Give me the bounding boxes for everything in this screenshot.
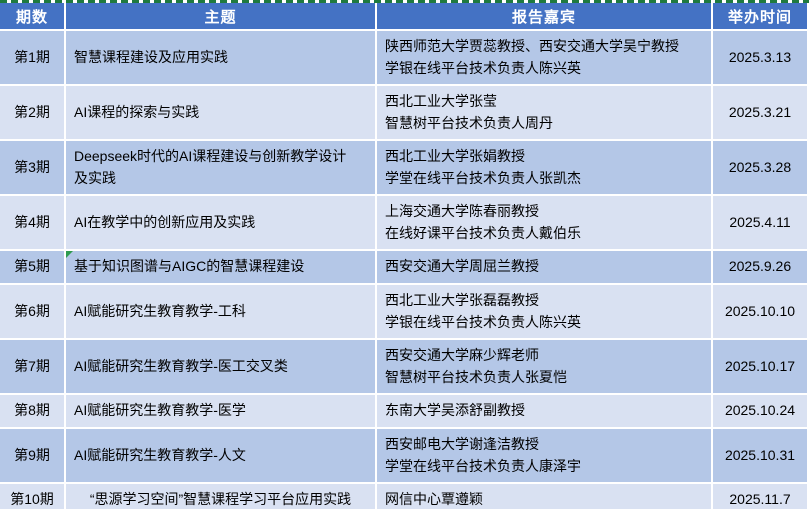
cell-guest[interactable]: 上海交通大学陈春丽教授在线好课平台技术负责人戴伯乐 xyxy=(377,196,713,251)
table-row: 第4期AI在教学中的创新应用及实践上海交通大学陈春丽教授在线好课平台技术负责人戴… xyxy=(0,196,809,251)
guest-line: 学堂在线平台技术负责人张凯杰 xyxy=(385,168,703,190)
topic-line: 及实践 xyxy=(74,168,367,190)
guest-line: 学银在线平台技术负责人陈兴英 xyxy=(385,312,703,334)
cell-guest[interactable]: 东南大学吴添舒副教授 xyxy=(377,395,713,429)
table-row: 第7期AI赋能研究生教育教学-医工交叉类西安交通大学麻少辉老师智慧树平台技术负责… xyxy=(0,340,809,395)
column-header-issue[interactable]: 期数 xyxy=(0,3,66,31)
guest-line: 西北工业大学张磊磊教授 xyxy=(385,290,703,312)
guest-line: 在线好课平台技术负责人戴伯乐 xyxy=(385,223,703,245)
header-row: 期数 主题 报告嘉宾 举办时间 xyxy=(0,3,809,31)
table-header: 期数 主题 报告嘉宾 举办时间 xyxy=(0,3,809,31)
table-row: 第6期AI赋能研究生教育教学-工科西北工业大学张磊磊教授学银在线平台技术负责人陈… xyxy=(0,285,809,340)
column-header-topic[interactable]: 主题 xyxy=(66,3,377,31)
table-body: 第1期智慧课程建设及应用实践陕西师范大学贾蕊教授、西安交通大学吴宁教授学银在线平… xyxy=(0,31,809,509)
cell-guest[interactable]: 网信中心覃遵颖 xyxy=(377,484,713,509)
topic-line: AI赋能研究生教育教学-医工交叉类 xyxy=(74,356,367,378)
cell-issue[interactable]: 第2期 xyxy=(0,86,66,141)
guest-line: 网信中心覃遵颖 xyxy=(385,489,703,509)
topic-line: 基于知识图谱与AIGC的智慧课程建设 xyxy=(74,256,367,278)
cell-date[interactable]: 2025.10.24 xyxy=(713,395,809,429)
topic-line: AI课程的探索与实践 xyxy=(74,102,367,124)
guest-line: 学银在线平台技术负责人陈兴英 xyxy=(385,58,703,80)
column-header-guest[interactable]: 报告嘉宾 xyxy=(377,3,713,31)
cell-topic[interactable]: AI赋能研究生教育教学-人文 xyxy=(66,429,377,484)
cell-date[interactable]: 2025.3.21 xyxy=(713,86,809,141)
cell-guest[interactable]: 西安交通大学麻少辉老师智慧树平台技术负责人张夏恺 xyxy=(377,340,713,395)
schedule-table: 期数 主题 报告嘉宾 举办时间 第1期智慧课程建设及应用实践陕西师范大学贾蕊教授… xyxy=(0,3,809,509)
cell-date[interactable]: 2025.3.13 xyxy=(713,31,809,86)
guest-line: 陕西师范大学贾蕊教授、西安交通大学吴宁教授 xyxy=(385,36,703,58)
table-row: 第3期Deepseek时代的AI课程建设与创新教学设计及实践西北工业大学张娟教授… xyxy=(0,141,809,196)
cell-issue[interactable]: 第8期 xyxy=(0,395,66,429)
topic-line: AI赋能研究生教育教学-医学 xyxy=(74,400,367,422)
cell-guest[interactable]: 西北工业大学张磊磊教授学银在线平台技术负责人陈兴英 xyxy=(377,285,713,340)
cell-guest[interactable]: 陕西师范大学贾蕊教授、西安交通大学吴宁教授学银在线平台技术负责人陈兴英 xyxy=(377,31,713,86)
table-row: 第10期“思源学习空间”智慧课程学习平台应用实践网信中心覃遵颖2025.11.7 xyxy=(0,484,809,509)
cell-date[interactable]: 2025.4.11 xyxy=(713,196,809,251)
column-header-date[interactable]: 举办时间 xyxy=(713,3,809,31)
topic-line: AI赋能研究生教育教学-人文 xyxy=(74,445,367,467)
cell-issue[interactable]: 第10期 xyxy=(0,484,66,509)
cell-issue[interactable]: 第7期 xyxy=(0,340,66,395)
cell-topic[interactable]: AI赋能研究生教育教学-医工交叉类 xyxy=(66,340,377,395)
cell-topic[interactable]: AI赋能研究生教育教学-工科 xyxy=(66,285,377,340)
cell-date[interactable]: 2025.10.31 xyxy=(713,429,809,484)
cell-guest[interactable]: 西北工业大学张娟教授学堂在线平台技术负责人张凯杰 xyxy=(377,141,713,196)
guest-line: 西安交通大学周屈兰教授 xyxy=(385,256,703,278)
cell-topic[interactable]: AI在教学中的创新应用及实践 xyxy=(66,196,377,251)
cell-date[interactable]: 2025.10.10 xyxy=(713,285,809,340)
topic-line: “思源学习空间”智慧课程学习平台应用实践 xyxy=(74,489,367,509)
guest-line: 东南大学吴添舒副教授 xyxy=(385,400,703,422)
guest-line: 上海交通大学陈春丽教授 xyxy=(385,201,703,223)
table-row: 第8期AI赋能研究生教育教学-医学东南大学吴添舒副教授2025.10.24 xyxy=(0,395,809,429)
topic-line: Deepseek时代的AI课程建设与创新教学设计 xyxy=(74,146,367,168)
table-row: 第5期基于知识图谱与AIGC的智慧课程建设西安交通大学周屈兰教授2025.9.2… xyxy=(0,251,809,285)
cell-topic[interactable]: 智慧课程建设及应用实践 xyxy=(66,31,377,86)
cell-guest[interactable]: 西北工业大学张莹智慧树平台技术负责人周丹 xyxy=(377,86,713,141)
guest-line: 智慧树平台技术负责人张夏恺 xyxy=(385,367,703,389)
cell-date[interactable]: 2025.11.7 xyxy=(713,484,809,509)
table-row: 第2期AI课程的探索与实践西北工业大学张莹智慧树平台技术负责人周丹2025.3.… xyxy=(0,86,809,141)
cell-topic[interactable]: 基于知识图谱与AIGC的智慧课程建设 xyxy=(66,251,377,285)
guest-line: 智慧树平台技术负责人周丹 xyxy=(385,113,703,135)
cell-topic[interactable]: Deepseek时代的AI课程建设与创新教学设计及实践 xyxy=(66,141,377,196)
topic-line: 智慧课程建设及应用实践 xyxy=(74,47,367,69)
cell-guest[interactable]: 西安邮电大学谢逢洁教授学堂在线平台技术负责人康泽宇 xyxy=(377,429,713,484)
guest-line: 西安交通大学麻少辉老师 xyxy=(385,345,703,367)
cell-date[interactable]: 2025.10.17 xyxy=(713,340,809,395)
cell-issue[interactable]: 第4期 xyxy=(0,196,66,251)
guest-line: 学堂在线平台技术负责人康泽宇 xyxy=(385,456,703,478)
cell-issue[interactable]: 第6期 xyxy=(0,285,66,340)
cell-guest[interactable]: 西安交通大学周屈兰教授 xyxy=(377,251,713,285)
guest-line: 西北工业大学张娟教授 xyxy=(385,146,703,168)
table-row: 第9期AI赋能研究生教育教学-人文西安邮电大学谢逢洁教授学堂在线平台技术负责人康… xyxy=(0,429,809,484)
cell-topic[interactable]: AI赋能研究生教育教学-医学 xyxy=(66,395,377,429)
cell-topic[interactable]: “思源学习空间”智慧课程学习平台应用实践 xyxy=(66,484,377,509)
cell-date[interactable]: 2025.3.28 xyxy=(713,141,809,196)
cell-issue[interactable]: 第9期 xyxy=(0,429,66,484)
cell-topic[interactable]: AI课程的探索与实践 xyxy=(66,86,377,141)
guest-line: 西北工业大学张莹 xyxy=(385,91,703,113)
comment-marker-icon xyxy=(66,251,73,258)
table-row: 第1期智慧课程建设及应用实践陕西师范大学贾蕊教授、西安交通大学吴宁教授学银在线平… xyxy=(0,31,809,86)
cell-issue[interactable]: 第5期 xyxy=(0,251,66,285)
cell-date[interactable]: 2025.9.26 xyxy=(713,251,809,285)
spreadsheet-canvas: 期数 主题 报告嘉宾 举办时间 第1期智慧课程建设及应用实践陕西师范大学贾蕊教授… xyxy=(0,0,809,509)
guest-line: 西安邮电大学谢逢洁教授 xyxy=(385,434,703,456)
topic-line: AI在教学中的创新应用及实践 xyxy=(74,212,367,234)
topic-line: AI赋能研究生教育教学-工科 xyxy=(74,301,367,323)
cell-issue[interactable]: 第1期 xyxy=(0,31,66,86)
cell-issue[interactable]: 第3期 xyxy=(0,141,66,196)
